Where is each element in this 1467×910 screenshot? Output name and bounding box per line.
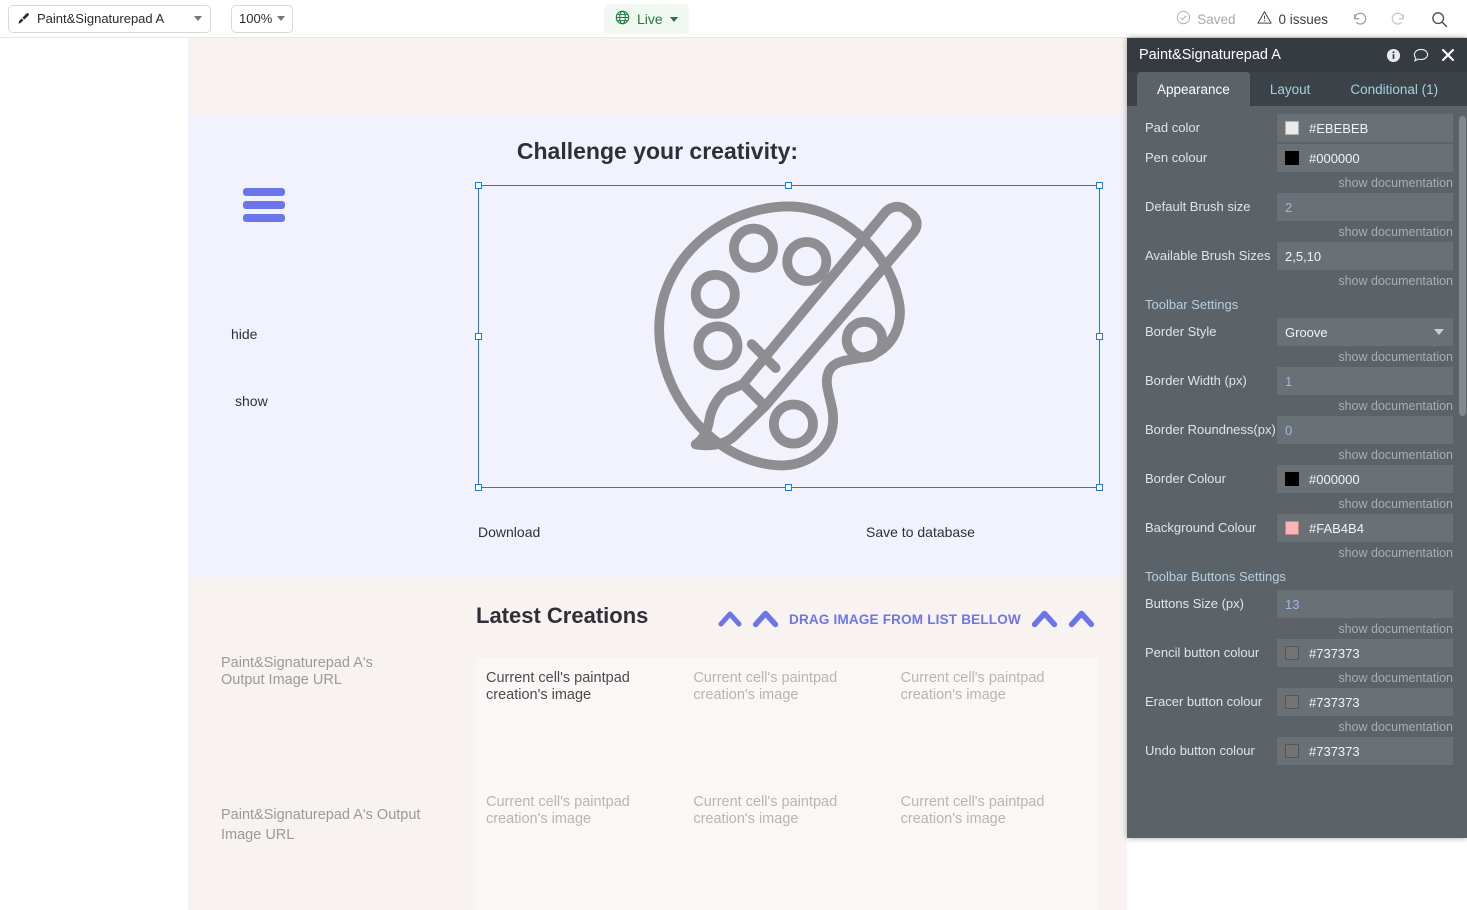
border-style-select[interactable]: Groove (1277, 318, 1453, 346)
resize-handle-middle-left[interactable] (475, 333, 482, 340)
property-label: Border Width (px) (1145, 367, 1277, 388)
property-row-undo-button-colour: Undo button colour #737373 (1127, 737, 1467, 765)
panel-title: Paint&Signaturepad A (1139, 47, 1386, 63)
property-row-pencil-button-colour: Pencil button colour #737373 (1127, 639, 1467, 667)
toolbar-right-group: Saved 0 issues (1176, 0, 1449, 38)
property-row-pen-colour: Pen colour #000000 (1127, 144, 1467, 172)
property-value: #737373 (1309, 744, 1360, 759)
chevron-down-icon (670, 17, 678, 22)
grid-cell-text: Current cell's paintpad creation's image (486, 670, 673, 703)
hamburger-bar (243, 188, 285, 196)
property-value: #000000 (1309, 151, 1360, 166)
zoom-selector[interactable]: 100% (231, 5, 293, 33)
show-documentation-link[interactable]: show documentation (1127, 272, 1467, 291)
chevron-up-icon (752, 608, 779, 630)
panel-scrollbar-thumb[interactable] (1459, 116, 1466, 416)
color-swatch[interactable] (1285, 744, 1299, 758)
output-image-url-label[interactable]: Paint&Signaturepad A's Output Image URL (221, 805, 431, 846)
undo-icon[interactable] (1350, 10, 1368, 28)
resize-handle-top-right[interactable] (1096, 182, 1103, 189)
show-documentation-link[interactable]: show documentation (1127, 397, 1467, 416)
property-row-border-colour: Border Colour #000000 (1127, 465, 1467, 493)
show-documentation-link[interactable]: show documentation (1127, 495, 1467, 514)
warning-triangle-icon (1257, 10, 1272, 28)
color-swatch[interactable] (1285, 646, 1299, 660)
chevron-down-icon (194, 16, 202, 21)
brush-icon (17, 12, 30, 25)
resize-handle-bottom-left[interactable] (475, 484, 482, 491)
default-brush-size-input[interactable]: 2 (1277, 193, 1453, 221)
grid-cell[interactable]: Current cell's paintpad creation's image (891, 658, 1098, 782)
grid-cell[interactable]: Current cell's paintpad creation's image (891, 782, 1098, 906)
property-label: Pad color (1145, 114, 1277, 135)
resize-handle-bottom-right[interactable] (1096, 484, 1103, 491)
property-label: Undo button colour (1145, 737, 1277, 758)
element-selector[interactable]: Paint&Signaturepad A (8, 5, 211, 33)
property-value: 13 (1285, 597, 1299, 612)
properties-list: Pad color #EBEBEB Pen colour #000000 sho… (1127, 106, 1467, 838)
save-to-database-button[interactable]: Save to database (866, 524, 975, 540)
resize-handle-top-center[interactable] (785, 182, 792, 189)
section-toolbar-buttons-settings: Toolbar Buttons Settings (1127, 563, 1467, 590)
border-colour-input[interactable]: #000000 (1277, 465, 1453, 493)
output-image-url-label[interactable]: Paint&Signaturepad A's Output Image URL (221, 655, 411, 688)
show-documentation-link[interactable]: show documentation (1127, 718, 1467, 737)
property-value: #FAB4B4 (1309, 521, 1364, 536)
page-title: Challenge your creativity: (188, 138, 1127, 165)
show-documentation-link[interactable]: show documentation (1127, 223, 1467, 242)
check-circle-icon (1176, 10, 1191, 28)
element-selector-label: Paint&Signaturepad A (37, 11, 164, 26)
hamburger-menu-icon[interactable] (243, 188, 285, 222)
background-colour-input[interactable]: #FAB4B4 (1277, 514, 1453, 542)
globe-icon (615, 10, 630, 28)
property-row-border-roundness: Border Roundness(px) 0 (1127, 416, 1467, 444)
show-documentation-link[interactable]: show documentation (1127, 174, 1467, 193)
property-label: Default Brush size (1145, 193, 1277, 214)
color-swatch[interactable] (1285, 695, 1299, 709)
property-inspector-panel: Paint&Signaturepad A Appearance Layout C… (1127, 38, 1467, 838)
property-value: #000000 (1309, 472, 1360, 487)
show-documentation-link[interactable]: show documentation (1127, 446, 1467, 465)
issues-status[interactable]: 0 issues (1257, 10, 1328, 28)
property-value: Groove (1285, 325, 1328, 340)
saved-label: Saved (1197, 12, 1235, 27)
paint-signaturepad-element[interactable] (478, 185, 1100, 488)
color-swatch[interactable] (1285, 151, 1299, 165)
search-icon[interactable] (1430, 10, 1449, 29)
property-label: Background Colour (1145, 514, 1277, 535)
panel-header: Paint&Signaturepad A (1127, 38, 1467, 72)
saved-status: Saved (1176, 10, 1235, 28)
show-documentation-link[interactable]: show documentation (1127, 669, 1467, 688)
color-swatch[interactable] (1285, 121, 1299, 135)
grid-cell[interactable]: Current cell's paintpad creation's image (476, 782, 683, 906)
pad-color-input[interactable]: #EBEBEB (1277, 114, 1453, 142)
property-row-border-style: Border Style Groove (1127, 318, 1467, 346)
property-label: Buttons Size (px) (1145, 590, 1277, 611)
hamburger-bar (243, 201, 285, 209)
grid-cell[interactable]: Current cell's paintpad creation's image (476, 658, 683, 782)
tab-conditional[interactable]: Conditional (1) (1330, 72, 1458, 106)
chevron-down-icon (1434, 329, 1444, 335)
show-link[interactable]: show (235, 393, 268, 409)
palette-illustration (479, 186, 1099, 487)
hide-link[interactable]: hide (231, 326, 257, 342)
resize-handle-bottom-center[interactable] (785, 484, 792, 491)
grid-cell-text: Current cell's paintpad creation's image (693, 670, 880, 703)
border-roundness-input[interactable]: 0 (1277, 416, 1453, 444)
border-width-input[interactable]: 1 (1277, 367, 1453, 395)
available-brush-sizes-input[interactable]: 2,5,10 (1277, 242, 1453, 270)
download-button[interactable]: Download (478, 524, 540, 540)
property-value: #EBEBEB (1309, 121, 1368, 136)
hamburger-bar (243, 214, 285, 222)
comment-icon[interactable] (1413, 48, 1429, 63)
grid-cell-text: Current cell's paintpad creation's image (486, 794, 673, 827)
chevron-up-icon (1031, 608, 1058, 630)
property-label: Border Roundness(px) (1145, 416, 1277, 437)
eracer-button-colour-input[interactable]: #737373 (1277, 688, 1453, 716)
property-value: 2,5,10 (1285, 249, 1321, 264)
property-row-buttons-size: Buttons Size (px) 13 (1127, 590, 1467, 618)
property-label: Pencil button colour (1145, 639, 1277, 660)
property-label: Border Colour (1145, 465, 1277, 486)
grid-cell-text: Current cell's paintpad creation's image (901, 794, 1088, 827)
tab-appearance[interactable]: Appearance (1137, 72, 1250, 106)
info-icon[interactable] (1386, 48, 1401, 63)
paint-palette-icon (638, 187, 940, 487)
drag-banner-text: DRAG IMAGE FROM LIST BELLOW (789, 612, 1021, 627)
property-row-border-width: Border Width (px) 1 (1127, 367, 1467, 395)
chevron-up-icon (718, 609, 742, 629)
property-value: 1 (1285, 374, 1292, 389)
property-value: 0 (1285, 423, 1292, 438)
live-mode-button[interactable]: Live (604, 4, 689, 34)
issues-label: 0 issues (1278, 12, 1328, 27)
property-label: Border Style (1145, 318, 1277, 339)
pen-colour-input[interactable]: #000000 (1277, 144, 1453, 172)
undo-button-colour-input[interactable]: #737373 (1277, 737, 1453, 765)
top-toolbar: Paint&Signaturepad A 100% Live Save (0, 0, 1467, 38)
pencil-button-colour-input[interactable]: #737373 (1277, 639, 1453, 667)
property-label: Eracer button colour (1145, 688, 1277, 709)
app-page: Challenge your creativity: hide show (188, 38, 1127, 910)
show-documentation-link[interactable]: show documentation (1127, 544, 1467, 563)
property-row-pad-color: Pad color #EBEBEB (1127, 114, 1467, 142)
property-row-default-brush-size: Default Brush size 2 (1127, 193, 1467, 221)
drag-image-banner: DRAG IMAGE FROM LIST BELLOW (718, 608, 1095, 630)
property-label: Available Brush Sizes (1145, 242, 1277, 263)
panel-tabs: Appearance Layout Conditional (1) (1127, 72, 1467, 106)
zoom-value: 100% (239, 11, 272, 26)
redo-icon[interactable] (1390, 10, 1408, 28)
property-label: Pen colour (1145, 144, 1277, 165)
show-documentation-link[interactable]: show documentation (1127, 348, 1467, 367)
chevron-down-icon (277, 16, 285, 21)
property-value: #737373 (1309, 695, 1360, 710)
panel-scrollbar-track[interactable] (1458, 106, 1467, 838)
grid-cell-text: Current cell's paintpad creation's image (901, 670, 1088, 703)
live-label: Live (637, 11, 663, 27)
property-row-eracer-button-colour: Eracer button colour #737373 (1127, 688, 1467, 716)
property-row-background-colour: Background Colour #FAB4B4 (1127, 514, 1467, 542)
resize-handle-top-left[interactable] (475, 182, 482, 189)
color-swatch[interactable] (1285, 472, 1299, 486)
chevron-up-icon (1068, 608, 1095, 630)
property-value: #737373 (1309, 646, 1360, 661)
grid-cell[interactable]: Current cell's paintpad creation's image (683, 658, 890, 782)
property-value: 2 (1285, 200, 1292, 215)
tab-layout[interactable]: Layout (1250, 72, 1331, 106)
latest-creations-title: Latest Creations (476, 603, 648, 629)
section-toolbar-settings: Toolbar Settings (1127, 291, 1467, 318)
property-row-available-brush-sizes: Available Brush Sizes 2,5,10 (1127, 242, 1467, 270)
creations-grid: Current cell's paintpad creation's image… (476, 658, 1098, 910)
show-documentation-link[interactable]: show documentation (1127, 620, 1467, 639)
grid-cell[interactable]: Current cell's paintpad creation's image (683, 782, 890, 906)
resize-handle-middle-right[interactable] (1096, 333, 1103, 340)
color-swatch[interactable] (1285, 521, 1299, 535)
buttons-size-input[interactable]: 13 (1277, 590, 1453, 618)
close-icon[interactable] (1441, 48, 1455, 62)
grid-cell-text: Current cell's paintpad creation's image (693, 794, 880, 827)
